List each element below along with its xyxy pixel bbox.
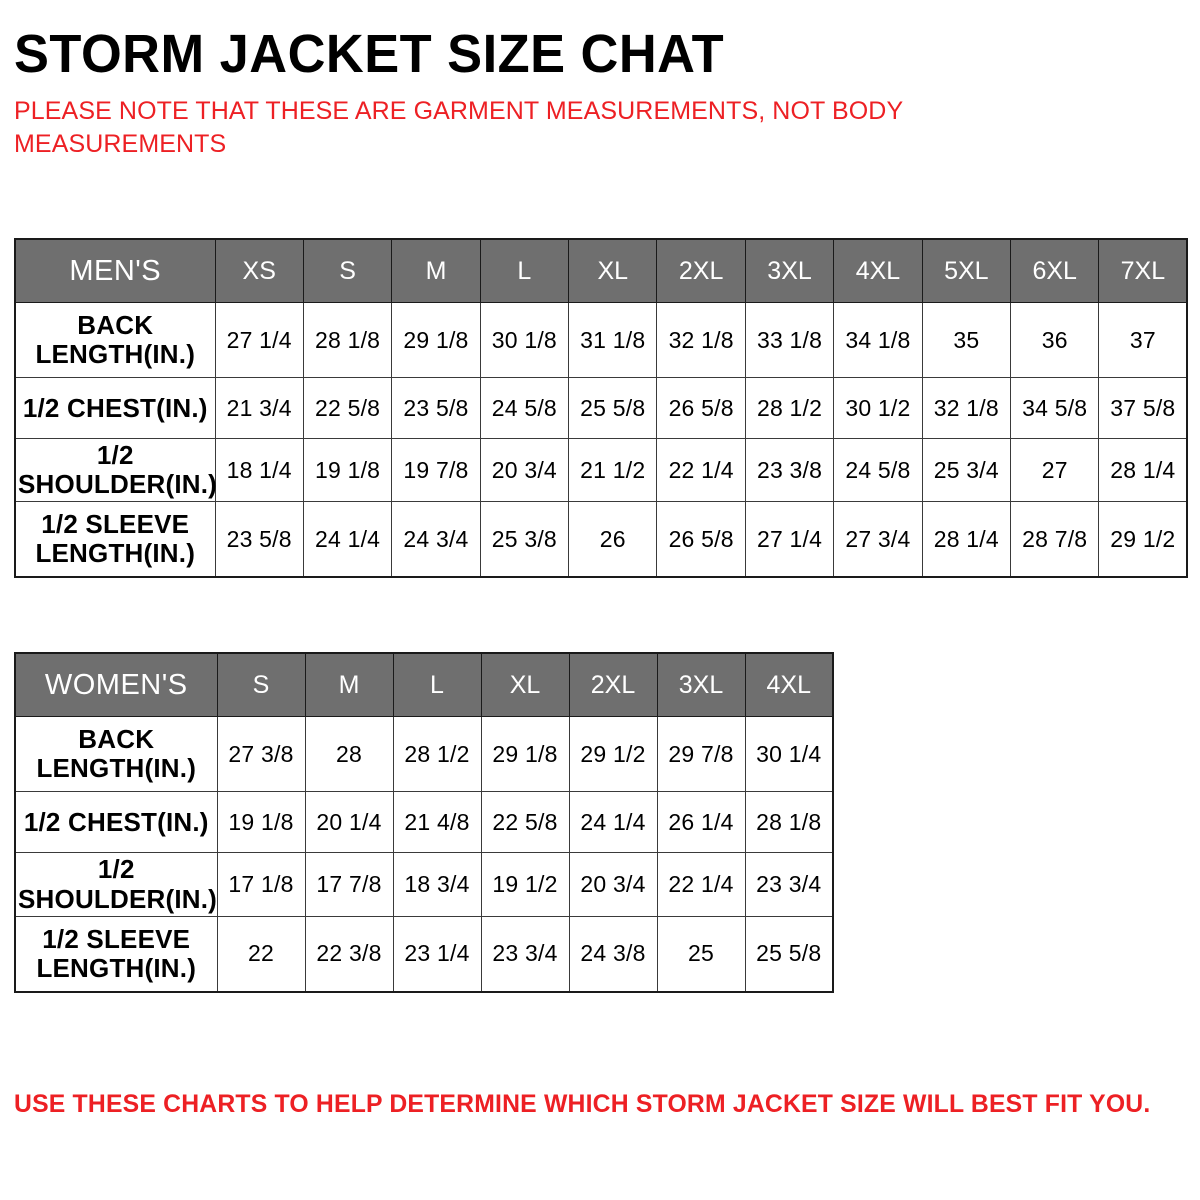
label-line-2: LENGTH(IN.)	[35, 339, 195, 369]
cell: 25 3/8	[480, 502, 568, 578]
cell: 25	[657, 916, 745, 992]
cell: 37 5/8	[1099, 378, 1187, 439]
mens-table-body: BACKLENGTH(IN.) 27 1/4 28 1/8 29 1/8 30 …	[15, 303, 1187, 578]
cell: 24 5/8	[480, 378, 568, 439]
label-line-1: BACK	[78, 724, 154, 754]
table-row: 1/2 SLEEVELENGTH(IN.) 22 22 3/8 23 1/4 2…	[15, 916, 833, 992]
mens-col-5xl: 5XL	[922, 239, 1010, 303]
mens-col-7xl: 7XL	[1099, 239, 1187, 303]
cell: 30 1/8	[480, 303, 568, 378]
table-row: 1/2 CHEST(IN.) 19 1/8 20 1/4 21 4/8 22 5…	[15, 792, 833, 853]
size-chart-page: STORM JACKET SIZE CHAT PLEASE NOTE THAT …	[0, 0, 1200, 1200]
cell: 23 5/8	[392, 378, 480, 439]
cell: 24 3/8	[569, 916, 657, 992]
label-line-1: 1/2 SLEEVE	[42, 924, 190, 954]
table-row: BACKLENGTH(IN.) 27 1/4 28 1/8 29 1/8 30 …	[15, 303, 1187, 378]
mens-col-2xl: 2XL	[657, 239, 745, 303]
label-line-2: LENGTH(IN.)	[36, 753, 196, 783]
cell: 22 3/8	[305, 916, 393, 992]
cell: 28 1/8	[745, 792, 833, 853]
womens-col-4xl: 4XL	[745, 653, 833, 717]
cell: 17 1/8	[217, 853, 305, 916]
cell: 28 1/4	[1099, 439, 1187, 502]
womens-header-row: WOMEN'S S M L XL 2XL 3XL 4XL	[15, 653, 833, 717]
cell: 23 5/8	[215, 502, 303, 578]
table-row: 1/2 SHOULDER(IN.) 18 1/4 19 1/8 19 7/8 2…	[15, 439, 1187, 502]
cell: 22 1/4	[657, 853, 745, 916]
cell: 26 5/8	[657, 502, 745, 578]
table-row: 1/2 SLEEVELENGTH(IN.) 23 5/8 24 1/4 24 3…	[15, 502, 1187, 578]
cell: 23 3/8	[745, 439, 833, 502]
cell: 26 5/8	[657, 378, 745, 439]
cell: 28 1/8	[303, 303, 391, 378]
cell: 24 1/4	[303, 502, 391, 578]
mens-col-m: M	[392, 239, 480, 303]
label-line-1: BACK	[77, 310, 153, 340]
cell: 19 7/8	[392, 439, 480, 502]
cell: 22 5/8	[303, 378, 391, 439]
cell: 22 5/8	[481, 792, 569, 853]
mens-table-header: MEN'S XS S M L XL 2XL 3XL 4XL 5XL 6XL 7X…	[15, 239, 1187, 303]
cell: 30 1/2	[834, 378, 922, 439]
cell: 34 1/8	[834, 303, 922, 378]
cell: 21 4/8	[393, 792, 481, 853]
cell: 23 1/4	[393, 916, 481, 992]
mens-col-l: L	[480, 239, 568, 303]
cell: 29 1/8	[392, 303, 480, 378]
cell: 27	[1011, 439, 1099, 502]
garment-measurement-note: PLEASE NOTE THAT THESE ARE GARMENT MEASU…	[14, 83, 974, 163]
cell: 19 1/8	[303, 439, 391, 502]
womens-header-label: WOMEN'S	[15, 653, 217, 717]
cell: 25 3/4	[922, 439, 1010, 502]
cell: 17 7/8	[305, 853, 393, 916]
cell: 20 1/4	[305, 792, 393, 853]
cell: 26	[569, 502, 657, 578]
mens-row-label-half-sleeve-length: 1/2 SLEEVELENGTH(IN.)	[15, 502, 215, 578]
mens-col-s: S	[303, 239, 391, 303]
cell: 32 1/8	[922, 378, 1010, 439]
cell: 32 1/8	[657, 303, 745, 378]
cell: 36	[1011, 303, 1099, 378]
cell: 28	[305, 717, 393, 792]
cell: 33 1/8	[745, 303, 833, 378]
label-line-1: 1/2 SLEEVE	[41, 509, 189, 539]
mens-size-table: MEN'S XS S M L XL 2XL 3XL 4XL 5XL 6XL 7X…	[14, 238, 1188, 578]
cell: 22	[217, 916, 305, 992]
cell: 21 1/2	[569, 439, 657, 502]
cell: 27 3/4	[834, 502, 922, 578]
label-line-2: LENGTH(IN.)	[35, 538, 195, 568]
womens-row-label-half-shoulder: 1/2 SHOULDER(IN.)	[15, 853, 217, 916]
womens-col-xl: XL	[481, 653, 569, 717]
cell: 18 3/4	[393, 853, 481, 916]
mens-header-row: MEN'S XS S M L XL 2XL 3XL 4XL 5XL 6XL 7X…	[15, 239, 1187, 303]
womens-col-3xl: 3XL	[657, 653, 745, 717]
cell: 24 1/4	[569, 792, 657, 853]
size-help-note: USE THESE CHARTS TO HELP DETERMINE WHICH…	[14, 1089, 1174, 1119]
cell: 30 1/4	[745, 717, 833, 792]
mens-row-label-half-shoulder: 1/2 SHOULDER(IN.)	[15, 439, 215, 502]
mens-col-4xl: 4XL	[834, 239, 922, 303]
cell: 29 7/8	[657, 717, 745, 792]
cell: 19 1/8	[217, 792, 305, 853]
cell: 27 1/4	[745, 502, 833, 578]
womens-table-header: WOMEN'S S M L XL 2XL 3XL 4XL	[15, 653, 833, 717]
cell: 20 3/4	[480, 439, 568, 502]
cell: 25 5/8	[745, 916, 833, 992]
cell: 37	[1099, 303, 1187, 378]
womens-col-l: L	[393, 653, 481, 717]
cell: 23 3/4	[745, 853, 833, 916]
womens-row-label-half-chest: 1/2 CHEST(IN.)	[15, 792, 217, 853]
cell: 35	[922, 303, 1010, 378]
cell: 28 1/4	[922, 502, 1010, 578]
cell: 18 1/4	[215, 439, 303, 502]
mens-col-3xl: 3XL	[745, 239, 833, 303]
mens-col-6xl: 6XL	[1011, 239, 1099, 303]
cell: 21 3/4	[215, 378, 303, 439]
mens-header-label: MEN'S	[15, 239, 215, 303]
cell: 25 5/8	[569, 378, 657, 439]
cell: 24 5/8	[834, 439, 922, 502]
label-line-2: LENGTH(IN.)	[36, 953, 196, 983]
table-row: 1/2 CHEST(IN.) 21 3/4 22 5/8 23 5/8 24 5…	[15, 378, 1187, 439]
mens-col-xl: XL	[569, 239, 657, 303]
womens-table-body: BACKLENGTH(IN.) 27 3/8 28 28 1/2 29 1/8 …	[15, 717, 833, 992]
womens-col-s: S	[217, 653, 305, 717]
womens-row-label-back-length: BACKLENGTH(IN.)	[15, 717, 217, 792]
cell: 34 5/8	[1011, 378, 1099, 439]
mens-row-label-half-chest: 1/2 CHEST(IN.)	[15, 378, 215, 439]
cell: 27 1/4	[215, 303, 303, 378]
cell: 19 1/2	[481, 853, 569, 916]
cell: 29 1/2	[1099, 502, 1187, 578]
cell: 24 3/4	[392, 502, 480, 578]
table-row: BACKLENGTH(IN.) 27 3/8 28 28 1/2 29 1/8 …	[15, 717, 833, 792]
table-row: 1/2 SHOULDER(IN.) 17 1/8 17 7/8 18 3/4 1…	[15, 853, 833, 916]
womens-col-2xl: 2XL	[569, 653, 657, 717]
mens-row-label-back-length: BACKLENGTH(IN.)	[15, 303, 215, 378]
cell: 20 3/4	[569, 853, 657, 916]
cell: 27 3/8	[217, 717, 305, 792]
page-title: STORM JACKET SIZE CHAT	[14, 0, 1151, 83]
cell: 29 1/2	[569, 717, 657, 792]
footer-note-wrap: USE THESE CHARTS TO HELP DETERMINE WHICH…	[14, 1089, 1186, 1119]
cell: 28 7/8	[1011, 502, 1099, 578]
cell: 29 1/8	[481, 717, 569, 792]
womens-row-label-half-sleeve-length: 1/2 SLEEVELENGTH(IN.)	[15, 916, 217, 992]
cell: 23 3/4	[481, 916, 569, 992]
cell: 26 1/4	[657, 792, 745, 853]
mens-col-xs: XS	[215, 239, 303, 303]
womens-col-m: M	[305, 653, 393, 717]
cell: 22 1/4	[657, 439, 745, 502]
cell: 31 1/8	[569, 303, 657, 378]
womens-size-table: WOMEN'S S M L XL 2XL 3XL 4XL BACKLENGTH(…	[14, 652, 834, 992]
cell: 28 1/2	[393, 717, 481, 792]
cell: 28 1/2	[745, 378, 833, 439]
